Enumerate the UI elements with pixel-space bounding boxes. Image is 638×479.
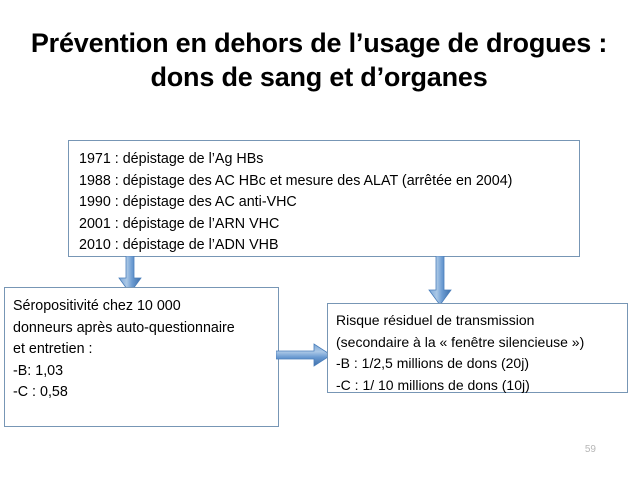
residual-risk-line: -B : 1/2,5 millions de dons (20j) (336, 353, 627, 375)
seropositivity-line: Séropositivité chez 10 000 (13, 296, 278, 318)
screening-history-line: 2001 : dépistage de l’ARN VHC (79, 214, 579, 236)
screening-history-box: 1971 : dépistage de l’Ag HBs 1988 : dépi… (68, 140, 580, 257)
arrow-right-icon (276, 342, 332, 368)
screening-history-line: 1971 : dépistage de l’Ag HBs (79, 149, 579, 171)
seropositivity-line: et entretien : (13, 339, 278, 361)
page-number: 59 (585, 444, 596, 455)
residual-risk-line: (secondaire à la « fenêtre silencieuse »… (336, 332, 627, 354)
screening-history-line: 1990 : dépistage des AC anti-VHC (79, 192, 579, 214)
seropositivity-line: -C : 0,58 (13, 382, 278, 404)
slide-canvas: Prévention en dehors de l’usage de drogu… (0, 0, 638, 479)
screening-history-line: 1988 : dépistage des AC HBc et mesure de… (79, 171, 579, 193)
seropositivity-line: -B: 1,03 (13, 361, 278, 383)
screening-history-line: 2010 : dépistage de l’ADN VHB (79, 235, 579, 257)
seropositivity-box: Séropositivité chez 10 000 donneurs aprè… (4, 287, 279, 427)
page-title: Prévention en dehors de l’usage de drogu… (14, 26, 624, 94)
arrow-down-icon (427, 256, 453, 306)
seropositivity-line: donneurs après auto-questionnaire (13, 318, 278, 340)
page-title-line-2: dons de sang et d’organes (14, 60, 624, 94)
residual-risk-line: -C : 1/ 10 millions de dons (10j) (336, 375, 627, 397)
residual-risk-line: Risque résiduel de transmission (336, 310, 627, 332)
residual-risk-box: Risque résiduel de transmission (seconda… (327, 303, 628, 393)
page-title-line-1: Prévention en dehors de l’usage de drogu… (14, 26, 624, 60)
